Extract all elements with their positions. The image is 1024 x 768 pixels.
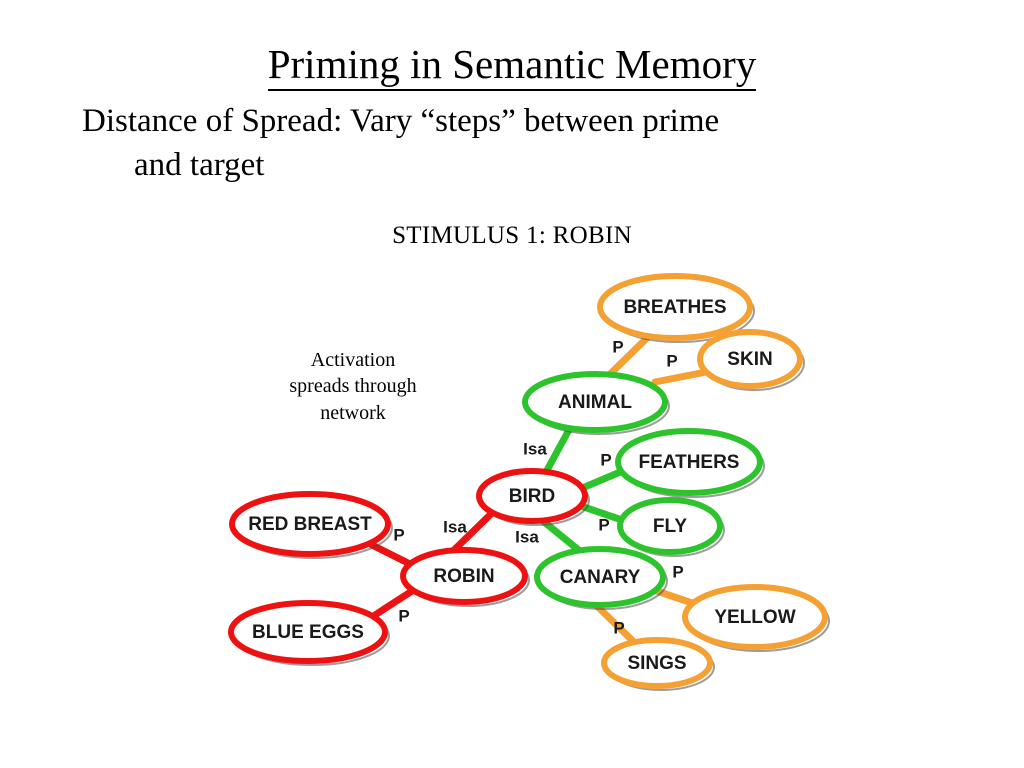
network-node-skin: SKIN [700,332,804,390]
node-shadow-ring-icon [407,554,529,606]
network-node-sings: SINGS [604,640,714,690]
network-edge-bird-feathers [580,470,625,489]
node-shadow-ring-icon [689,591,829,651]
node-ellipse-red [231,603,385,661]
annotation-line-1: Activation [258,347,448,373]
node-shadow-ring-icon [236,498,392,558]
network-node-layer: BREATHESSKINANIMALFEATHERSFLYBIRDCANARYR… [231,276,829,690]
network-edge-animal-breathes [606,335,650,378]
node-ellipse-red [232,494,388,554]
network-edge-animal-bird [546,428,570,472]
network-edge-animal-skin [655,372,706,382]
node-ellipse-orange [685,587,825,647]
node-ellipse-red [403,550,525,602]
edge-label-bird-fly: P [598,515,609,534]
network-edge-bird-robin [454,515,490,550]
slide-root: Priming in Semantic Memory Distance of S… [0,0,1024,768]
slide-subtitle: Distance of Spread: Vary “steps” between… [82,100,962,188]
network-node-robin: ROBIN [403,550,529,606]
node-label-robin: ROBIN [433,566,494,587]
network-edge-canary-yellow [651,589,695,604]
node-ellipse-green [537,549,663,605]
page-title-text: Priming in Semantic Memory [268,41,757,91]
page-title: Priming in Semantic Memory [0,43,1024,86]
network-edge-robin-redbreast [372,545,410,564]
edge-label-robin-blueeggs: P [398,606,409,625]
edge-label-bird-canary: Isa [515,527,539,546]
node-label-animal: ANIMAL [558,392,632,413]
node-label-feathers: FEATHERS [639,452,740,473]
network-edge-bird-canary [543,521,581,552]
node-label-bird: BIRD [509,486,555,507]
network-node-animal: ANIMAL [525,374,669,434]
node-label-fly: FLY [653,516,687,537]
stimulus-heading: STIMULUS 1: ROBIN [0,222,1024,250]
node-shadow-ring-icon [608,644,714,690]
network-node-fly: FLY [620,500,724,556]
node-label-breathes: BREATHES [623,297,726,318]
network-node-feathers: FEATHERS [618,431,764,497]
node-shadow-ring-icon [235,607,389,665]
node-label-canary: CANARY [560,567,641,588]
edge-label-animal-skin: P [666,351,677,370]
network-node-bird: BIRD [479,471,589,525]
annotation-line-3: network [258,400,448,426]
edge-label-canary-sings: P [613,618,624,637]
node-ellipse-orange [600,276,750,338]
node-shadow-ring-icon [704,336,804,390]
node-ellipse-red [479,471,585,521]
edge-label-animal-bird: Isa [523,439,547,458]
network-node-blueeggs: BLUE EGGS [231,603,389,665]
edge-label-bird-robin: Isa [443,517,467,536]
node-shadow-ring-icon [483,475,589,525]
edge-label-canary-yellow: P [672,562,683,581]
edge-label-bird-feathers: P [600,450,611,469]
node-label-yellow: YELLOW [714,607,795,628]
network-node-breathes: BREATHES [600,276,754,342]
node-shadow-ring-icon [604,280,754,342]
network-edge-canary-sings [596,605,640,648]
node-shadow-ring-icon [541,553,667,609]
network-node-canary: CANARY [537,549,667,609]
network-edge-bird-fly [578,505,625,521]
network-node-yellow: YELLOW [685,587,829,651]
node-label-redbreast: RED BREAST [248,514,372,535]
node-label-blueeggs: BLUE EGGS [252,622,364,643]
node-ellipse-green [618,431,760,493]
slide-subtitle-line2: and target [82,144,962,188]
node-shadow-ring-icon [622,435,764,497]
annotation-line-2: spreads through [258,373,448,399]
edge-label-animal-breathes: P [612,337,623,356]
node-label-skin: SKIN [727,349,772,370]
slide-subtitle-line1: Distance of Spread: Vary “steps” between… [82,103,719,139]
node-ellipse-orange [700,332,800,386]
node-shadow-ring-icon [624,504,724,556]
edge-label-robin-redbreast: P [393,525,404,544]
node-ellipse-green [525,374,665,430]
node-ellipse-green [620,500,720,552]
network-node-redbreast: RED BREAST [232,494,392,558]
network-edge-robin-blueeggs [375,591,412,615]
node-ellipse-orange [604,640,710,686]
node-label-sings: SINGS [627,653,686,674]
node-shadow-ring-icon [529,378,669,434]
activation-annotation: Activation spreads through network [258,347,448,426]
